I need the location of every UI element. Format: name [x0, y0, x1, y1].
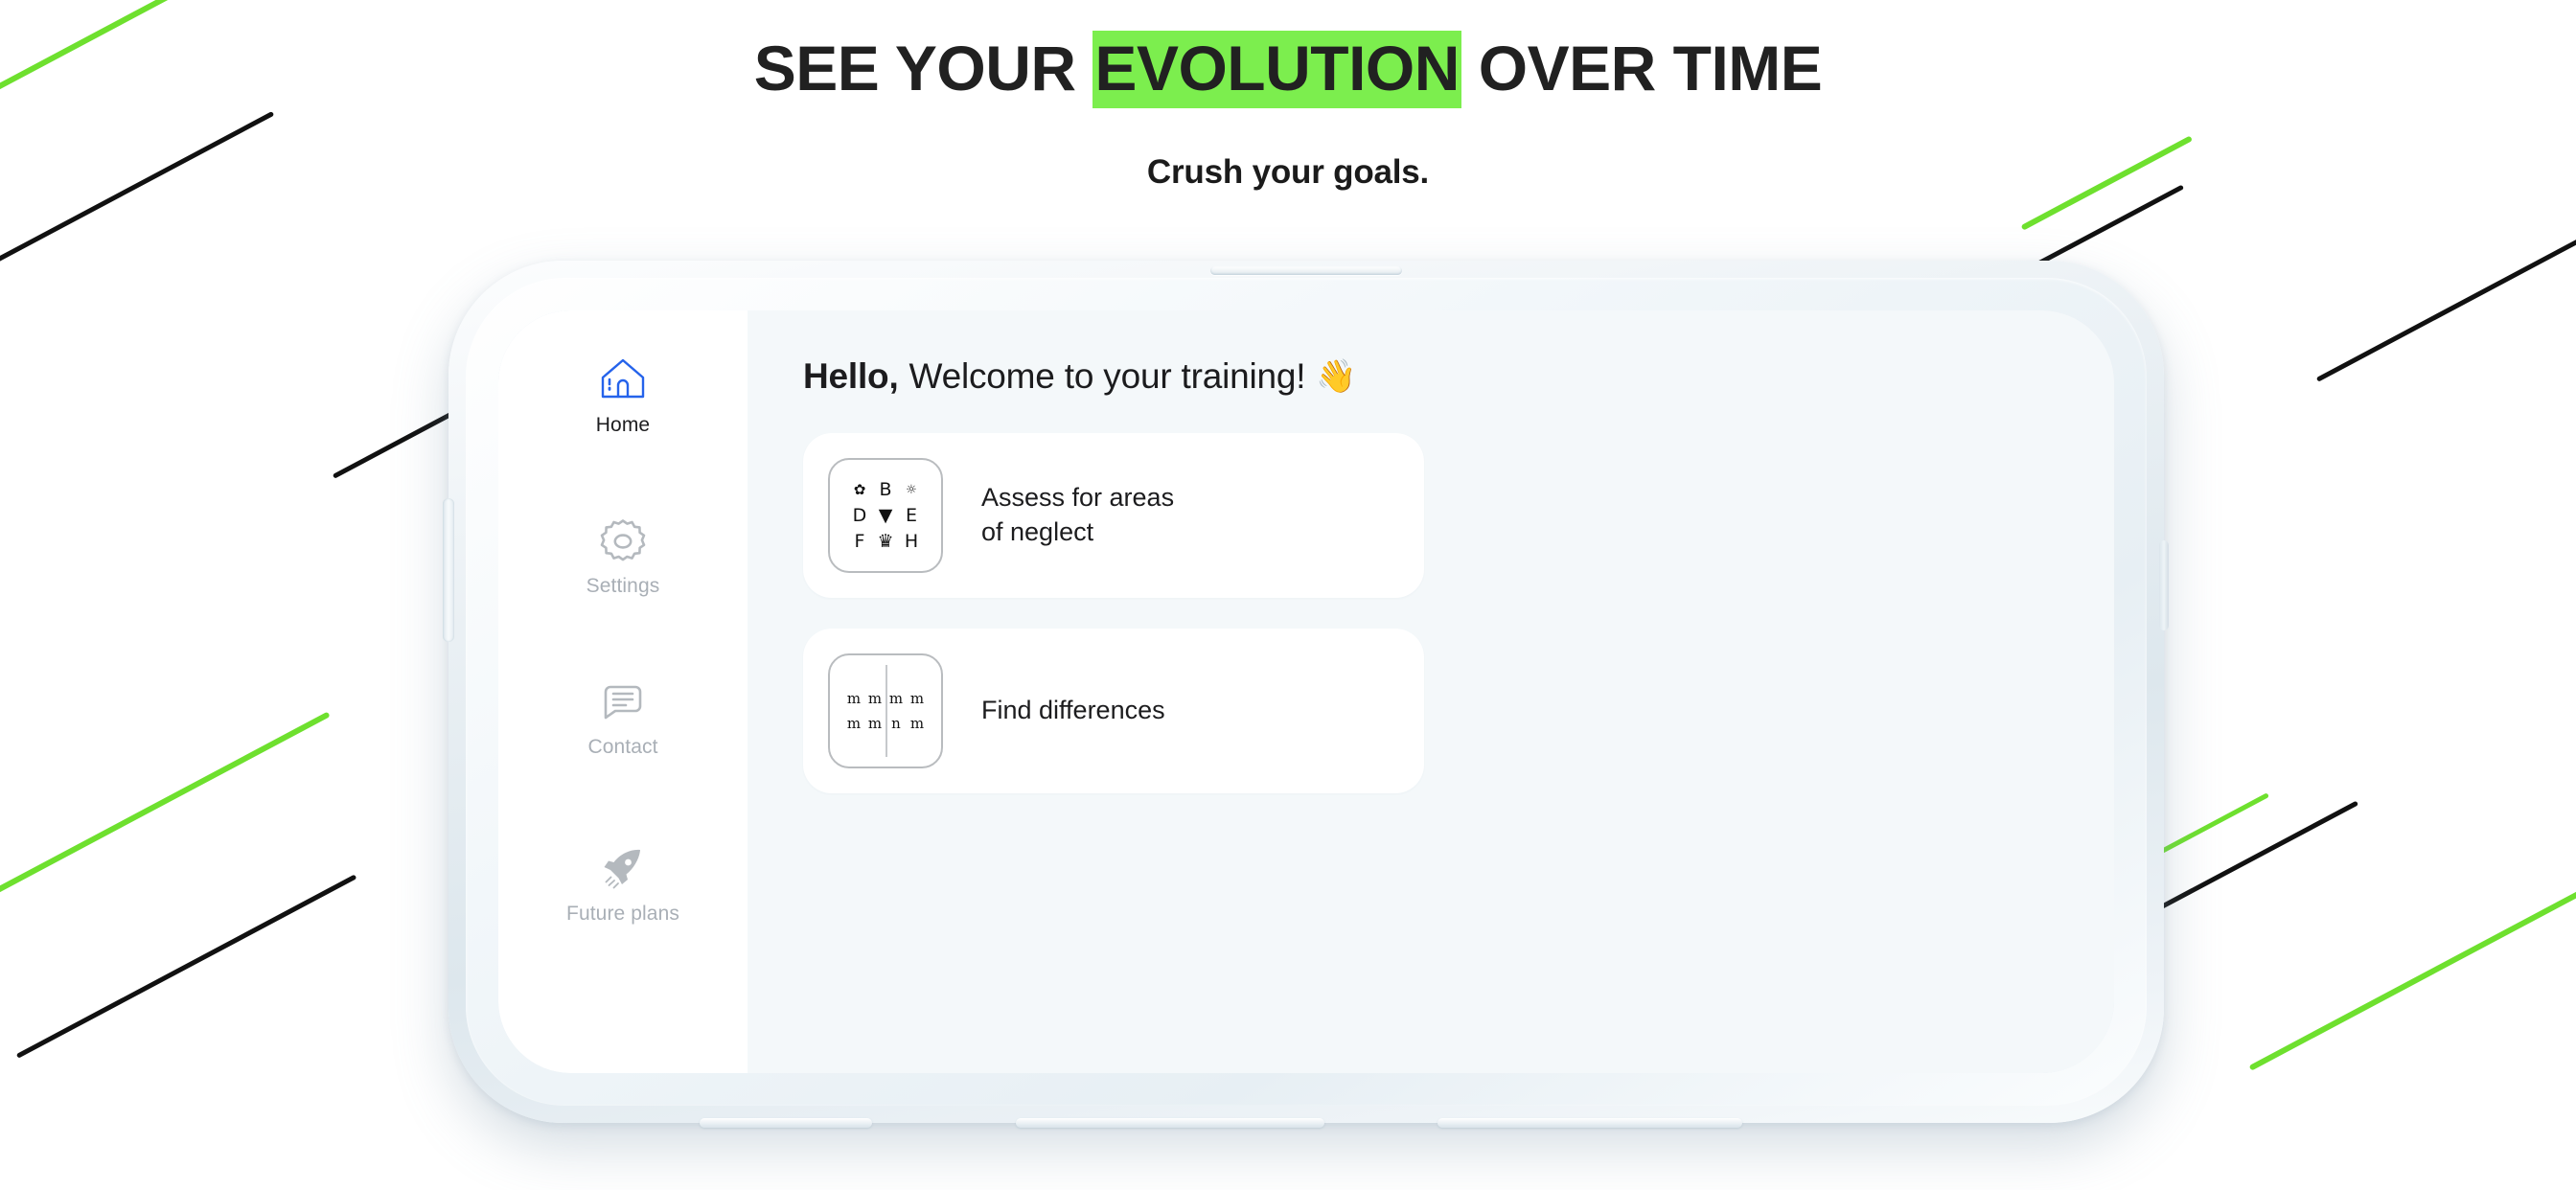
symbol-grid-3x3: ✿ B ☼ D ▼ E F ♛ H [847, 477, 925, 555]
letter-grid-icon: m m m m m m n m [828, 653, 943, 768]
phone-side-button-left[interactable] [443, 498, 454, 642]
grid-cell: ♛ [877, 533, 893, 551]
sidebar-item-future-plans[interactable]: Future plans [498, 843, 747, 926]
grid-cell: H [905, 533, 918, 551]
deco-line-black-tr-far [2316, 229, 2576, 381]
deco-line-black-tl [0, 111, 274, 273]
chat-bubble-icon [597, 676, 649, 728]
headline-post: OVER TIME [1461, 33, 1822, 103]
sidebar-item-settings[interactable]: Settings [498, 515, 747, 598]
grid-cell: m [847, 690, 861, 707]
sidebar-item-home[interactable]: Home [498, 355, 747, 437]
grid-cell: F [855, 533, 865, 551]
phone-side-button-right[interactable] [2159, 540, 2169, 630]
page-title: SEE YOUR EVOLUTION OVER TIME [754, 36, 1823, 100]
waving-hand-emoji: 👋 [1316, 360, 1356, 393]
letter-grid-2x4: m m m m m m n m [843, 686, 928, 736]
deco-line-black-ml [16, 875, 357, 1059]
gear-icon [597, 515, 649, 567]
task-card-find-differences[interactable]: m m m m m m n m Find differe [803, 629, 1424, 793]
hero-subtitle: Crush your goals. [0, 153, 2576, 192]
sidebar-item-contact[interactable]: Contact [498, 676, 747, 759]
rocket-icon [597, 843, 649, 895]
grid-cell: m [910, 690, 924, 707]
app-root: Home Settings [498, 310, 2114, 1073]
task-title: Find differences [981, 694, 1165, 728]
sidebar-item-label-contact: Contact [587, 736, 657, 759]
grid-cell: m [889, 690, 903, 707]
deco-line-green-br-far [2249, 886, 2576, 1071]
task-card-assess-neglect[interactable]: ✿ B ☼ D ▼ E F ♛ H [803, 433, 1424, 598]
grid-cell: m [868, 715, 882, 732]
grid-divider [885, 665, 887, 757]
grid-cell: ☼ [906, 484, 917, 496]
grid-cell: m [910, 715, 924, 732]
grid-cell: m [868, 690, 882, 707]
grid-cell: E [906, 507, 917, 525]
grid-cell: n [891, 715, 901, 732]
phone-earpiece-speaker [1210, 266, 1402, 275]
greeting-bold: Hello, [803, 356, 899, 397]
sidebar-item-label-future-plans: Future plans [566, 903, 679, 926]
deco-line-green-ml [0, 712, 331, 897]
grid-cell: ✿ [854, 483, 866, 497]
phone-bottom-button-3[interactable] [1437, 1118, 1742, 1128]
landing-page: SEE YOUR EVOLUTION OVER TIME Crush your … [0, 0, 2576, 1190]
grid-cell: B [879, 481, 891, 499]
hero-heading-wrap: SEE YOUR EVOLUTION OVER TIME [0, 36, 2576, 100]
sidebar-item-label-home: Home [596, 414, 650, 437]
sidebar: Home Settings [498, 310, 747, 1073]
task-title: Assess for areas of neglect [981, 481, 1174, 549]
symbol-grid-icon: ✿ B ☼ D ▼ E F ♛ H [828, 458, 943, 573]
phone-bottom-button-2[interactable] [1016, 1118, 1324, 1128]
headline-highlight: EVOLUTION [1092, 31, 1461, 108]
main-content: Hello, Welcome to your training! 👋 ✿ B ☼ [747, 310, 2114, 1073]
grid-cell: D [853, 507, 867, 525]
grid-cell: ▼ [879, 507, 893, 525]
phone-screen: Home Settings [498, 310, 2114, 1073]
greeting: Hello, Welcome to your training! 👋 [803, 356, 2114, 397]
grid-cell: m [847, 715, 861, 732]
headline-pre: SEE YOUR [754, 33, 1093, 103]
phone-body: Home Settings [448, 261, 2164, 1123]
phone-bottom-button-1[interactable] [700, 1118, 872, 1128]
greeting-rest: Welcome to your training! [909, 356, 1306, 397]
sidebar-item-label-settings: Settings [586, 575, 660, 598]
home-icon [597, 355, 649, 406]
phone-mockup: Home Settings [448, 261, 2164, 1123]
